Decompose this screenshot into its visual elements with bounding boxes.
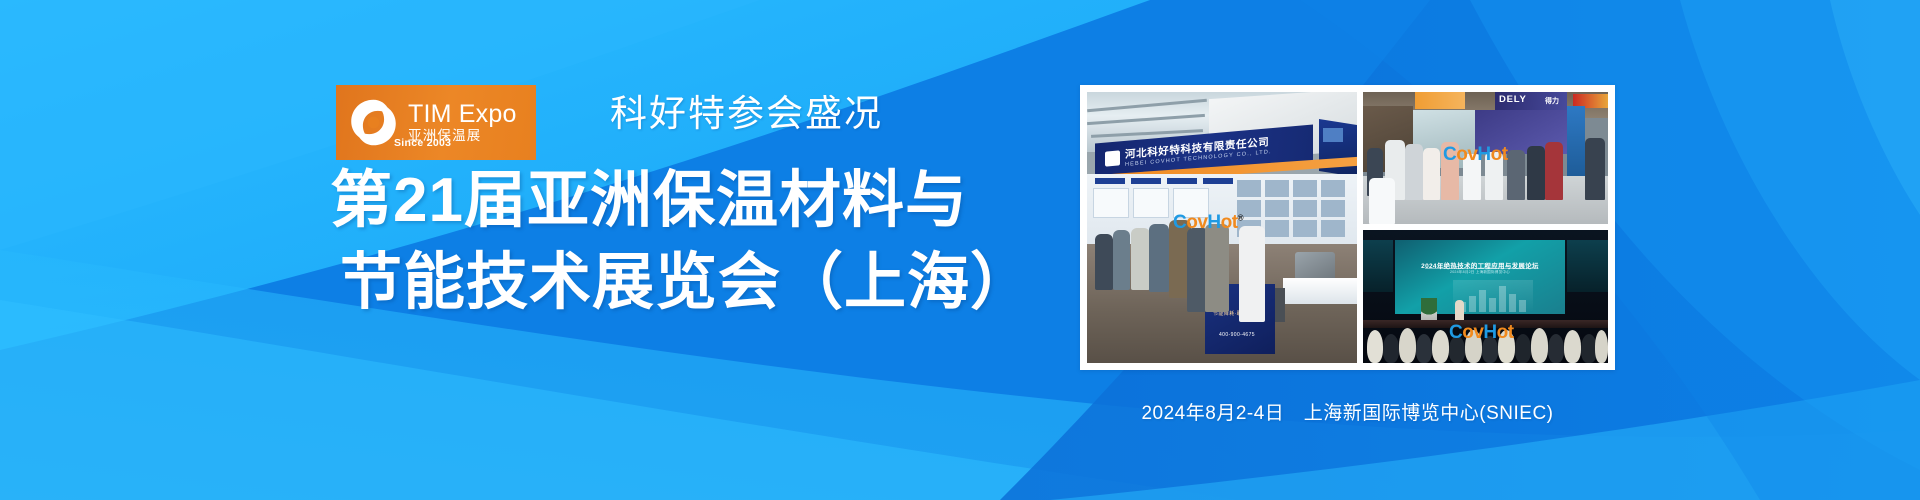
poster [1093,188,1129,218]
poster-header [1167,178,1197,184]
screen-bar [1519,300,1526,312]
covhot-watermark: CovHot [1443,144,1508,166]
screen-bar [1499,286,1506,312]
visitor [1405,144,1423,200]
side-screen-right [1567,240,1608,292]
visitor [1527,146,1545,200]
booth-side-image [1323,128,1343,142]
audience-member [1595,330,1608,363]
screen-bar [1509,294,1516,312]
audience-member [1515,334,1531,363]
product-thumbnail [1265,220,1289,237]
poster [1133,188,1169,218]
product-thumbnail [1293,200,1317,217]
booth-logo-icon [1105,150,1120,166]
audience-member [1367,330,1383,363]
product-thumbnail [1293,180,1317,197]
banner-title-line-1: 第21届亚洲保温材料与 [330,160,1033,242]
product-thumbnail [1237,180,1261,197]
speaker-presenter [1455,300,1464,322]
screen-bar [1469,296,1476,312]
screen-bar [1489,298,1496,312]
banner-title-line-2: 节能技术展览会（上海） [330,242,1033,324]
covhot-watermark: CovHot [1449,322,1514,344]
visitor [1369,178,1395,224]
counter-phone: 400-900-4675 [1219,332,1255,338]
visitor [1507,150,1525,200]
exhibition-banner: TIM Expo 亚洲保温展 Since 2003 科好特参会盛况 第21届亚洲… [0,0,1920,500]
audience-member [1531,328,1548,363]
photo-right-column: DELY 得力 C [1363,92,1608,363]
forum-screen-subtitle: 2024年8月2日 上海新国际博览中心 [1419,270,1541,275]
event-date-venue: 2024年8月2-4日 上海新国际博览中心(SNIEC) [1080,398,1615,425]
audience-member [1383,334,1399,363]
banner-title: 第21届亚洲保温材料与 节能技术展览会（上海） [330,160,1033,324]
audience-member [1548,334,1564,363]
visitor [1423,148,1440,200]
poster-header [1203,178,1233,184]
logo-title-en: TIM Expo [408,101,517,127]
product-thumbnail [1265,180,1289,197]
aisle-crowd-photo: DELY 得力 C [1363,92,1608,224]
display-table [1283,278,1357,304]
machine-display [1295,252,1335,280]
visitor [1095,234,1113,290]
visitor [1113,230,1130,290]
visitor [1239,226,1265,322]
screen-divider [1425,268,1535,269]
visitor [1205,224,1229,312]
product-thumbnail [1321,220,1345,237]
booth-photo: 河北科好特科技有限责任公司 HEBEI COVHOT TECHNOLOGY CO… [1087,92,1357,363]
dely-brand-label-cn: 得力 [1545,96,1559,106]
product-thumbnail [1321,200,1345,217]
tim-expo-logo[interactable]: TIM Expo 亚洲保温展 Since 2003 [336,85,536,160]
product-thumbnail [1265,200,1289,217]
audience-member [1432,330,1449,363]
visitor [1131,228,1150,290]
visitor [1149,224,1169,292]
visitor [1545,142,1563,200]
side-screen-left [1363,240,1393,292]
visitor [1585,138,1605,200]
banner-subtitle: 科好特参会盛况 [610,83,883,137]
audience-member [1416,334,1432,363]
dely-brand-label: DELY [1499,94,1527,105]
photo-collage: 河北科好特科技有限责任公司 HEBEI COVHOT TECHNOLOGY CO… [1080,85,1615,370]
stage-plant [1421,298,1437,320]
audience-member [1564,330,1581,363]
tim-expo-swirl-icon [347,96,400,149]
booth-sign-orange [1415,92,1465,109]
product-thumbnail [1321,180,1345,197]
poster-header [1095,178,1125,184]
screen-bar [1479,290,1486,312]
poster-header [1131,178,1161,184]
audience-member [1399,328,1416,363]
logo-since-label: Since 2003 [394,137,451,149]
product-thumbnail [1293,220,1317,237]
forum-hall-photo: 2024年绝热技术的工程应用与发展论坛 2024年8月2日 上海新国际博览中心 [1363,230,1608,363]
screen-graphic [1453,280,1533,312]
covhot-watermark: CovHot® [1173,212,1243,234]
